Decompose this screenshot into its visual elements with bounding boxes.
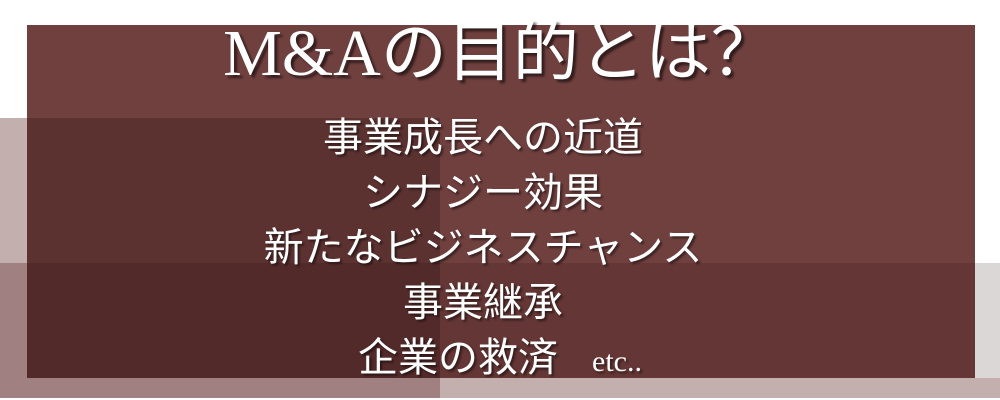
bullet-line-suffix (643, 125, 677, 158)
bullet-line-suffix (563, 290, 597, 323)
bullet-line-text: 新たなビジネスチャンス (264, 225, 703, 270)
bullet-line-text: 事業成長への近道 (323, 115, 643, 160)
bullet-line-suffix (702, 235, 736, 268)
bullet-line-text: 事業継承 (403, 280, 563, 325)
bullet-line: 企業の救済etc.. (0, 332, 1000, 387)
text-layer: M&Aの目的とは？ 事業成長への近道 シナジー効果 新たなビジネスチャンス 事業… (0, 0, 1000, 400)
bullet-line-list: 事業成長への近道 シナジー効果 新たなビジネスチャンス 事業継承 企業の救済et… (0, 112, 1000, 387)
bullet-line: 新たなビジネスチャンス (0, 222, 1000, 277)
bullet-line: 事業継承 (0, 277, 1000, 332)
bullet-line-suffix (603, 180, 637, 213)
bullet-line: シナジー効果 (0, 167, 1000, 222)
bullet-line: 事業成長への近道 (0, 112, 1000, 167)
slide-title: M&Aの目的とは？ (0, 19, 1000, 88)
bullet-line-suffix: etc.. (558, 345, 642, 378)
bullet-line-text: 企業の救済 (358, 335, 558, 380)
bullet-line-text: シナジー効果 (363, 170, 603, 215)
slide-canvas: M&Aの目的とは？ 事業成長への近道 シナジー効果 新たなビジネスチャンス 事業… (0, 0, 1000, 400)
